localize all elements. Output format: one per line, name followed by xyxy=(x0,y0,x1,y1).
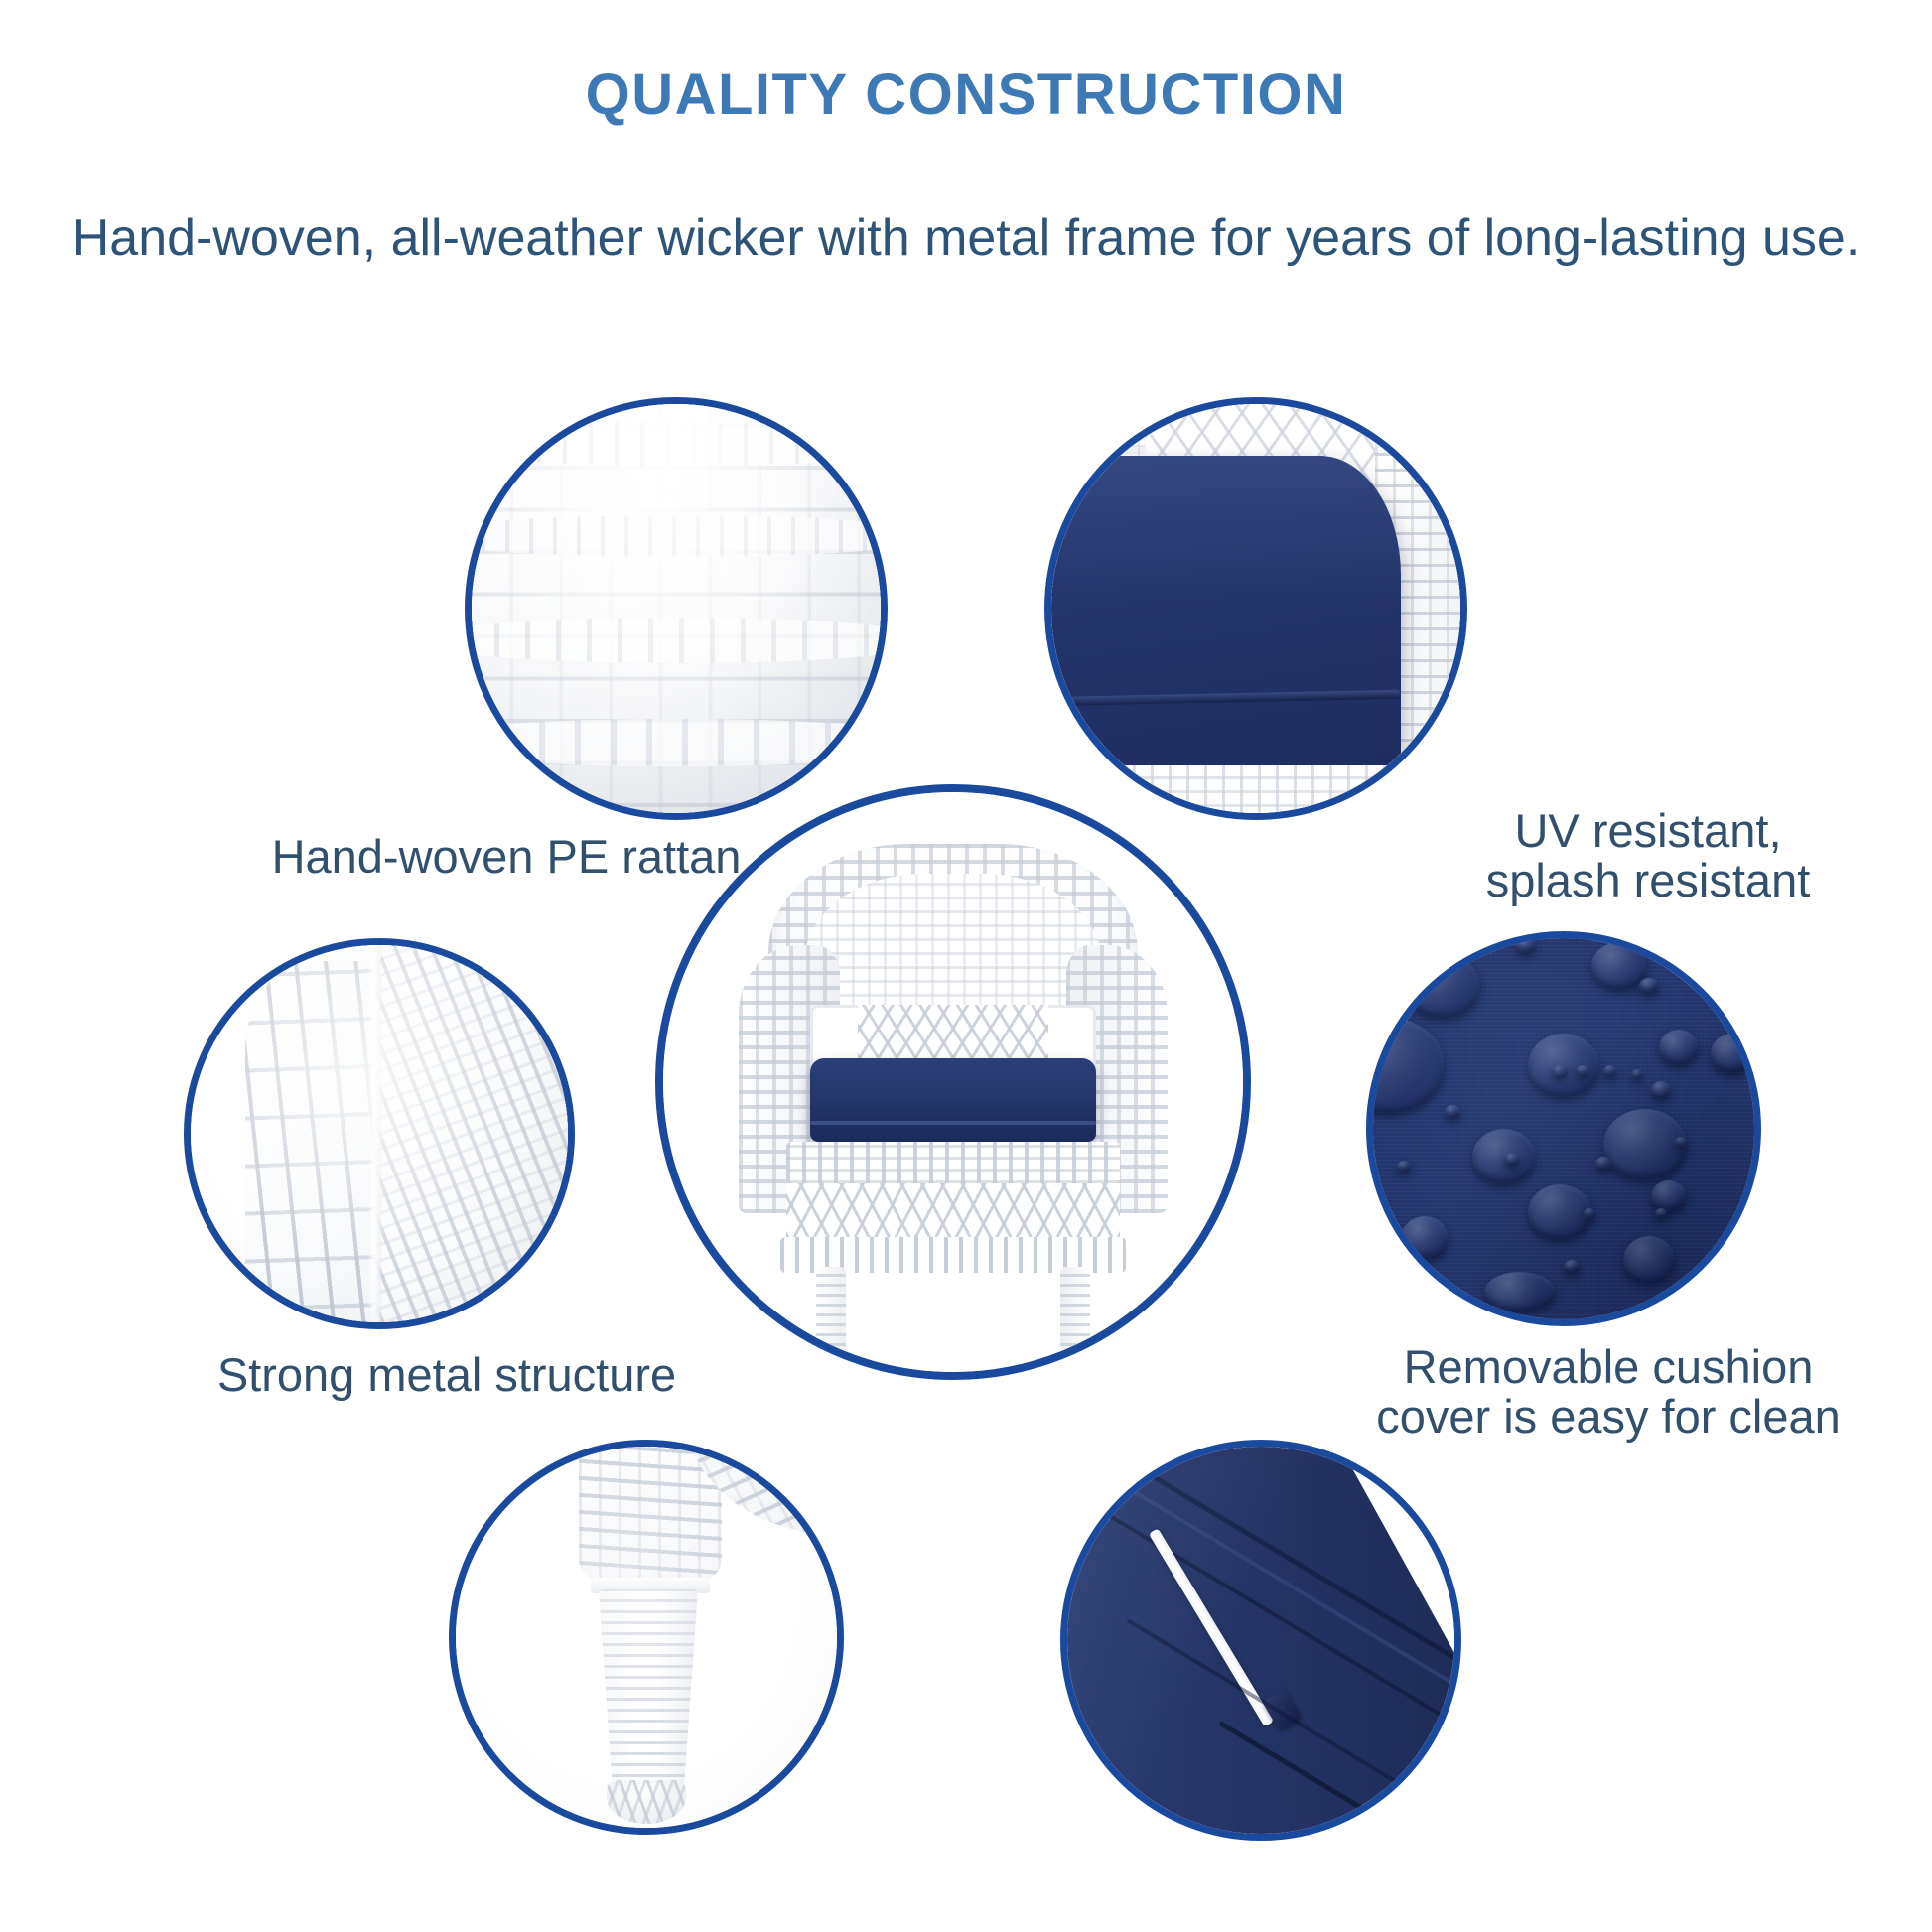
wicker-armrest-corner xyxy=(184,938,575,1329)
water-droplets-on-fabric xyxy=(1366,931,1761,1326)
wicker-weave-texture xyxy=(465,397,888,820)
feature-image-chair-overview xyxy=(655,784,1251,1380)
feature-label-removable-cushion-cover: Removable cushion cover is easy for clea… xyxy=(1291,1342,1926,1442)
page-subtitle: Hand-woven, all-weather wicker with meta… xyxy=(0,208,1932,268)
wicker-chair-leg xyxy=(449,1440,844,1835)
feature-image-uv-splash-resistant xyxy=(1044,397,1467,820)
cushion-zipper-detail xyxy=(1060,1440,1461,1841)
page-title: QUALITY CONSTRUCTION xyxy=(0,62,1932,128)
navy-cushion-on-wicker xyxy=(1044,397,1467,820)
feature-image-strong-metal-structure xyxy=(184,938,575,1329)
feature-label-uv-splash-resistant: UV resistant, splash resistant xyxy=(1390,806,1906,905)
feature-image-wicker-leg xyxy=(449,1440,844,1835)
feature-image-cushion-zipper xyxy=(1060,1440,1461,1841)
infographic-canvas: QUALITY CONSTRUCTION Hand-woven, all-wea… xyxy=(0,0,1932,1932)
feature-image-removable-cushion-cover xyxy=(1366,931,1761,1326)
feature-image-hand-woven-pe-rattan xyxy=(465,397,888,820)
wicker-armchair-illustration xyxy=(655,784,1251,1380)
